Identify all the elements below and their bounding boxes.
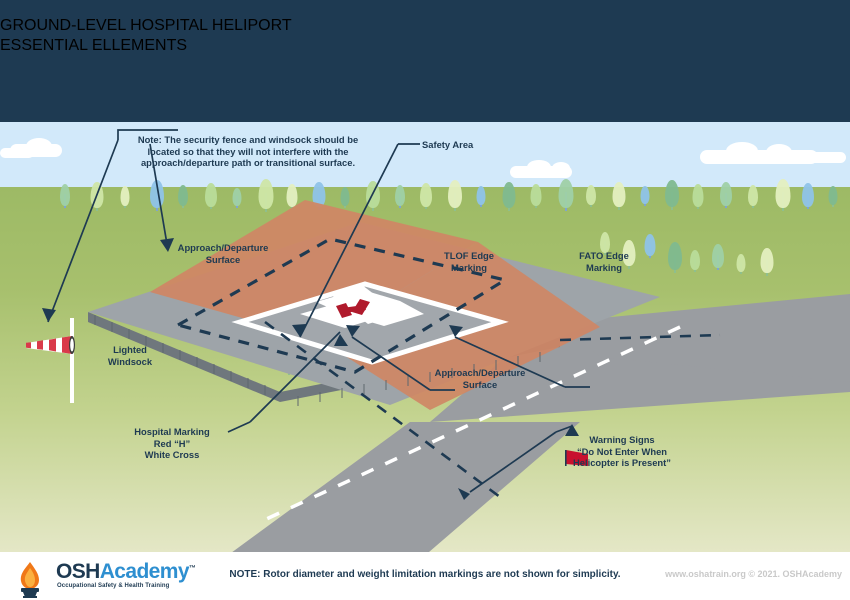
approach-departure-upper-label: Approach/Departure Surface xyxy=(148,242,298,265)
infographic-page: GROUND-LEVEL HOSPITAL HELIPORT ESSENTIAL… xyxy=(0,0,850,600)
roadway-lower xyxy=(205,422,580,552)
lighted-windsock-label: Lighted Windsock xyxy=(85,344,175,367)
header-banner: GROUND-LEVEL HOSPITAL HELIPORT ESSENTIAL… xyxy=(0,0,850,122)
note-top-label: Note: The security fence and windsock sh… xyxy=(118,134,378,169)
tlof-edge-marking-label: TLOF Edge Marking xyxy=(428,250,510,273)
safety-area-label: Safety Area xyxy=(422,139,473,151)
illustration-scene: Note: The security fence and windsock sh… xyxy=(0,122,850,552)
approach-departure-lower-label: Approach/Departure Surface xyxy=(405,367,555,390)
page-title-line-2: ESSENTIAL ELLEMENTS xyxy=(0,35,850,55)
heliport-diagram-svg xyxy=(0,122,850,552)
page-title-line-1: GROUND-LEVEL HOSPITAL HELIPORT xyxy=(0,0,850,35)
warning-signs-label: Warning Signs “Do Not Enter When Helicop… xyxy=(532,434,712,469)
logo-tagline: Occupational Safety & Health Training xyxy=(57,583,169,589)
fato-edge-marking-label: FATO Edge Marking xyxy=(562,250,646,273)
footer-bar: OSHAcademy™ Occupational Safety & Health… xyxy=(0,552,850,600)
windsock-sock-icon xyxy=(18,328,88,368)
hospital-marking-label: Hospital Marking Red “H” White Cross xyxy=(112,426,232,461)
footer-copyright: www.oshatrain.org © 2021. OSHAcademy xyxy=(665,569,842,579)
lighted-windsock xyxy=(18,318,88,403)
